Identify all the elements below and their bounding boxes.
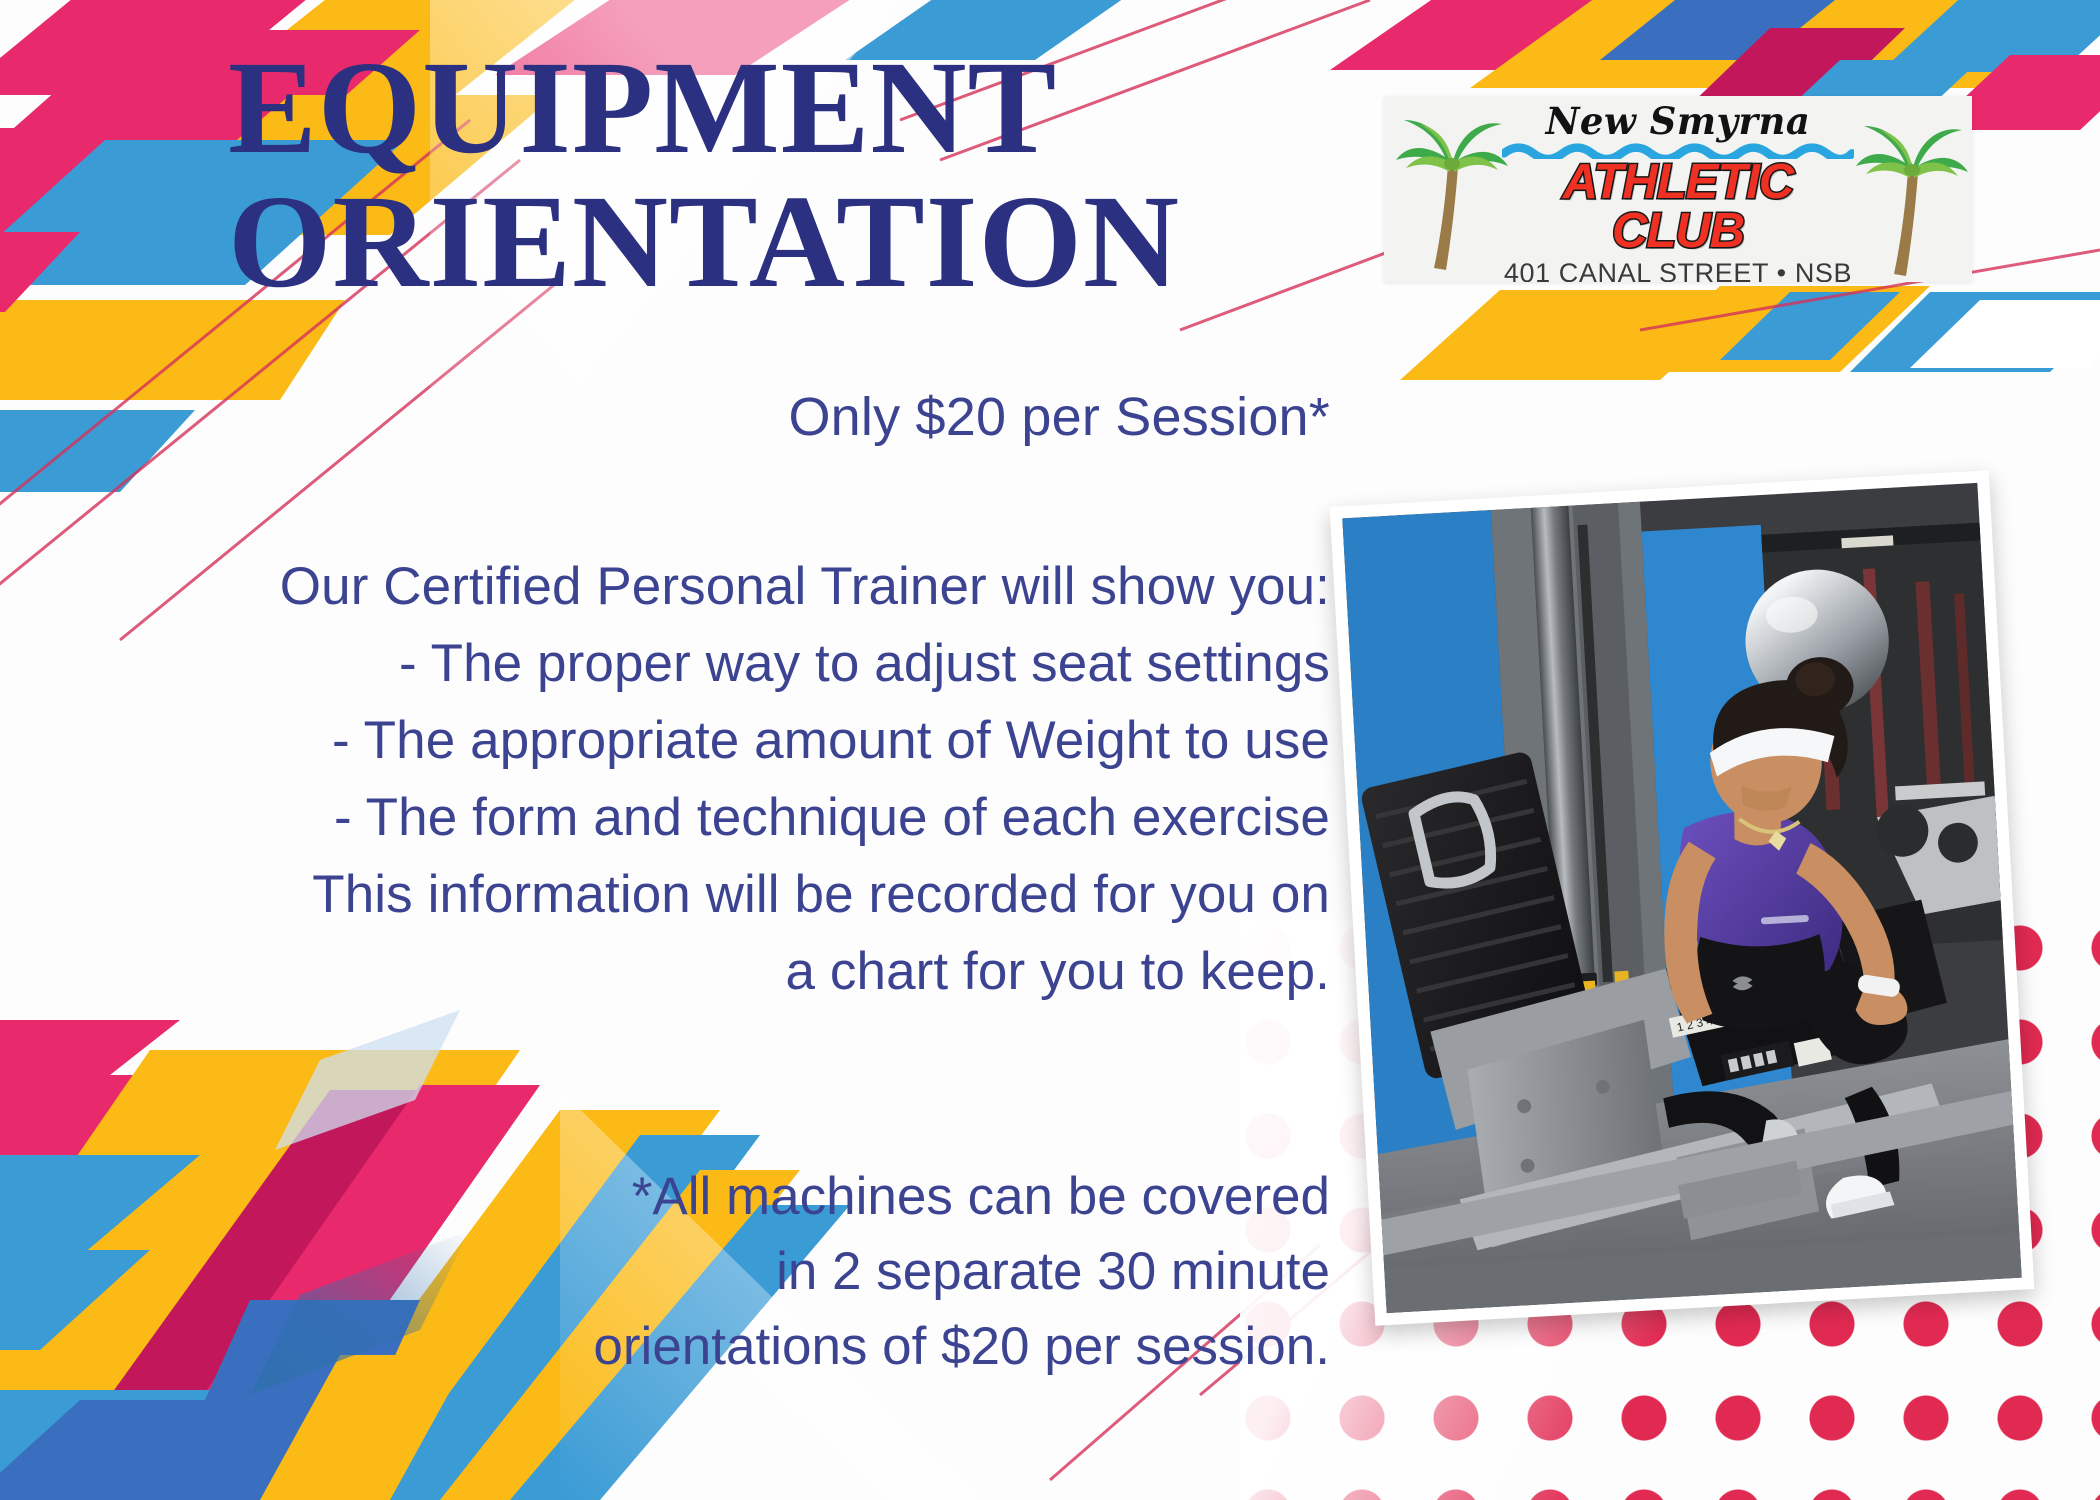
price-subtitle: Only $20 per Session*	[40, 386, 1330, 448]
body-line-bullet3: - The form and technique of each exercis…	[20, 791, 1330, 844]
poster-canvas: EQUIPMENT ORIENTATION	[0, 0, 2100, 1500]
body-line-intro: Our Certified Personal Trainer will show…	[20, 560, 1330, 613]
palm-tree-icon-left	[1390, 112, 1510, 272]
logo-address: 401 CANAL STREET • NSB	[1502, 258, 1854, 282]
palm-tree-icon-right	[1850, 118, 1970, 278]
body-line-record2: a chart for you to keep.	[20, 945, 1330, 998]
club-logo: New Smyrna ATHLETIC CLUB 401 CANAL STREE…	[1384, 96, 1972, 282]
body-copy: Our Certified Personal Trainer will show…	[20, 560, 1330, 1022]
footnote-copy: *All machines can be covered in 2 separa…	[20, 1170, 1330, 1395]
title-line-2: ORIENTATION	[228, 174, 1408, 308]
body-line-bullet2: - The appropriate amount of Weight to us…	[20, 714, 1330, 767]
body-line-bullet1: - The proper way to adjust seat settings	[20, 637, 1330, 690]
body-line-record1: This information will be recorded for yo…	[20, 868, 1330, 921]
footnote-line-3: orientations of $20 per session.	[20, 1320, 1330, 1373]
page-title: EQUIPMENT ORIENTATION	[228, 40, 1408, 309]
footnote-line-2: in 2 separate 30 minute	[20, 1245, 1330, 1298]
logo-script-name: New Smyrna	[1502, 102, 1854, 141]
title-line-1: EQUIPMENT	[228, 40, 1408, 174]
footnote-line-1: *All machines can be covered	[20, 1170, 1330, 1223]
gym-photo-frame: 1 2 3 4	[1330, 470, 2035, 1326]
gym-equipment-photo: 1 2 3 4	[1342, 483, 2021, 1313]
logo-club-name: ATHLETIC CLUB	[1502, 158, 1854, 256]
gym-photo-illustration: 1 2 3 4	[1342, 483, 2021, 1313]
